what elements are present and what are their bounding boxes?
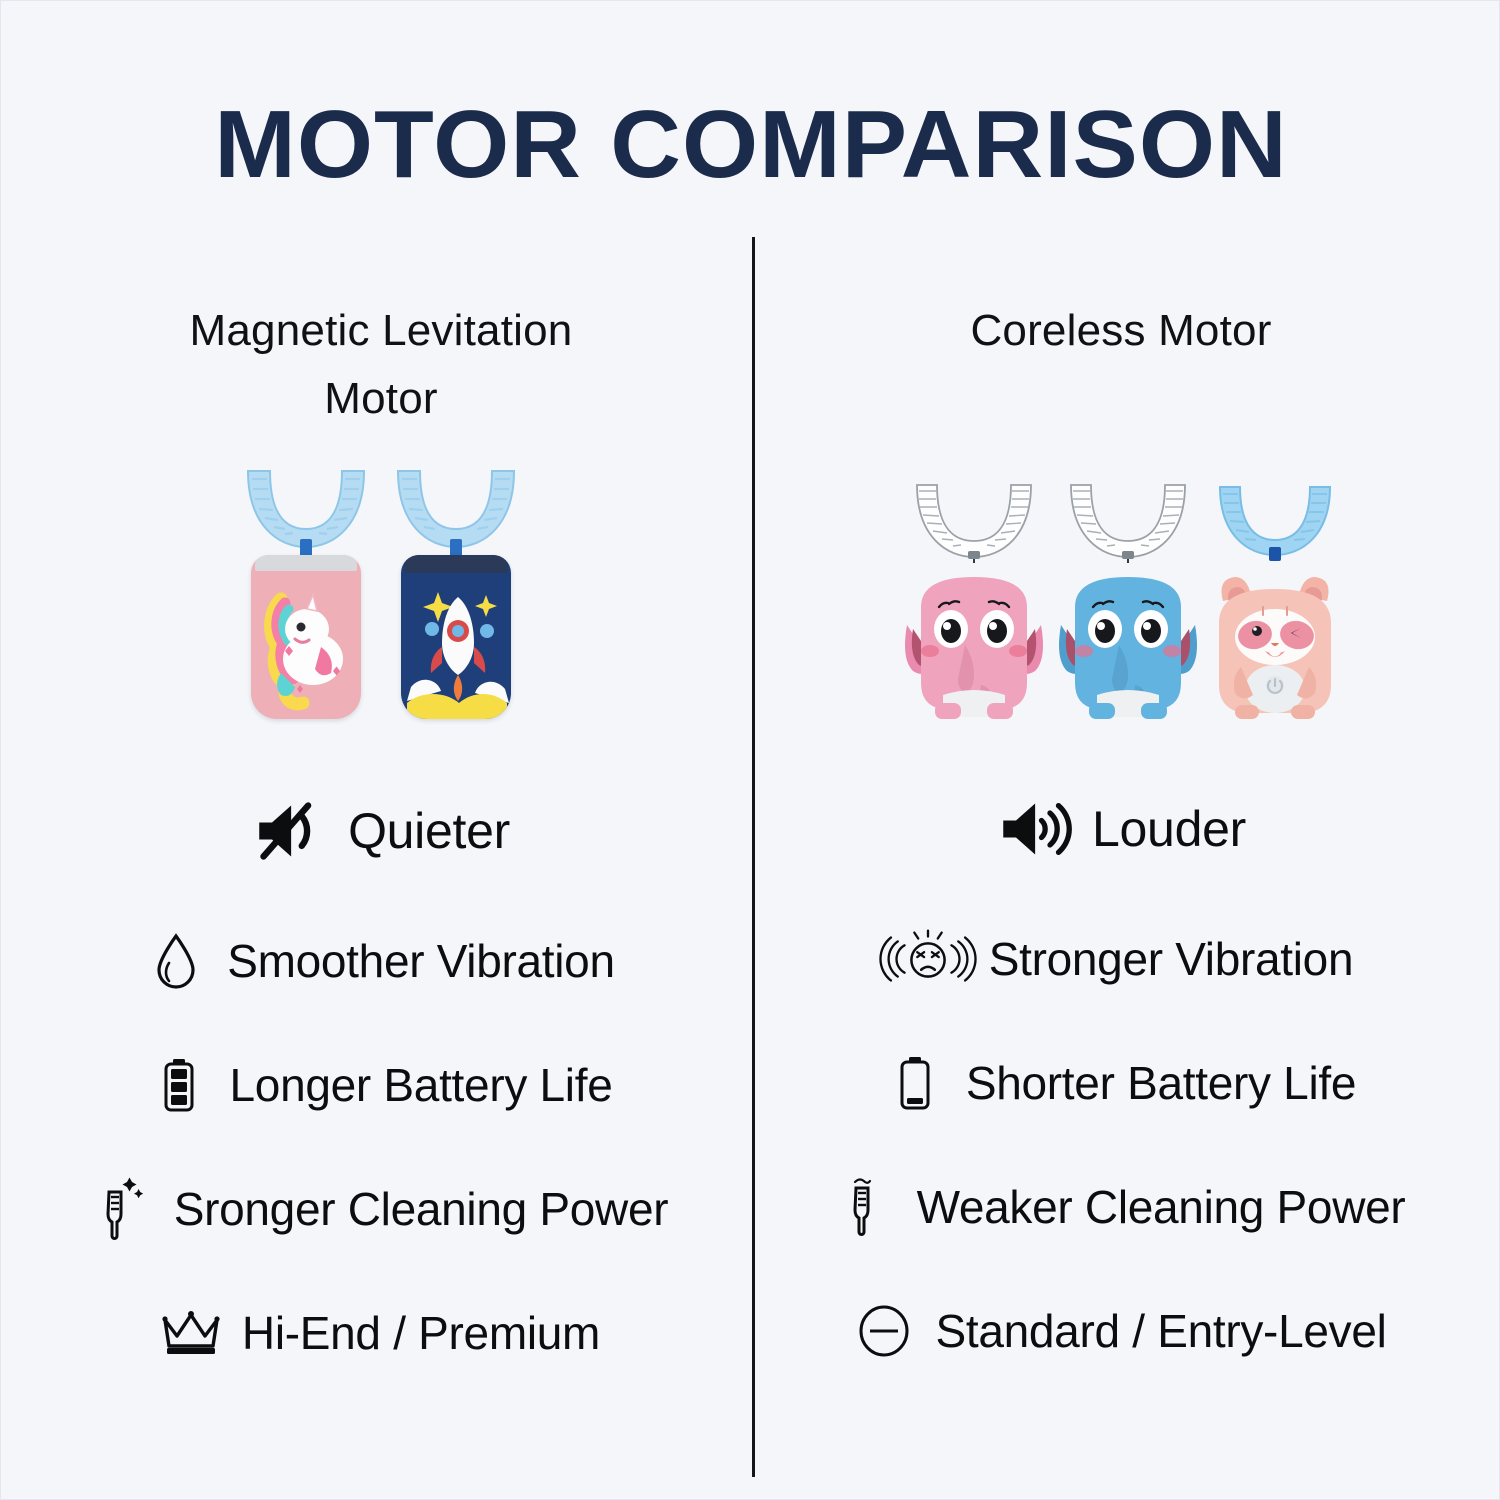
feature-row-weaker-cleaning: Weaker Cleaning Power	[771, 1145, 1471, 1269]
feature-list-left: Quieter Smoother Vibration	[31, 763, 731, 1395]
feature-row-hi-end-premium: Hi-End / Premium	[31, 1271, 731, 1395]
product-unicorn-toothbrush	[238, 467, 374, 719]
brush-head-icon	[905, 481, 1043, 563]
feature-row-longer-battery: Longer Battery Life	[31, 1023, 731, 1147]
crown-icon	[162, 1304, 220, 1362]
column-heading-left-line2: Motor	[31, 365, 731, 433]
feature-row-stronger-vibration: Stronger Vibration	[771, 897, 1471, 1021]
column-heading-left-line1: Magnetic Levitation	[31, 297, 731, 365]
product-images-right	[771, 447, 1471, 719]
speaker-loud-icon	[996, 794, 1070, 864]
device-body-pink-elephant	[899, 567, 1049, 719]
column-divider	[752, 237, 755, 1477]
brush-head-icon	[238, 467, 374, 553]
feature-row-shorter-battery: Shorter Battery Life	[771, 1021, 1471, 1145]
feature-label: Louder	[1092, 802, 1246, 856]
column-heading-right-line1: Coreless Motor	[771, 297, 1471, 365]
minus-circle-icon	[855, 1302, 913, 1360]
feature-label: Stronger Vibration	[989, 932, 1354, 986]
product-pink-elephant-toothbrush	[899, 481, 1049, 719]
battery-full-icon	[150, 1056, 208, 1114]
product-pink-panda-toothbrush	[1207, 483, 1343, 719]
toothbrush-icon	[837, 1178, 895, 1236]
feature-row-standard-entry-level: Standard / Entry-Level	[771, 1269, 1471, 1393]
feature-label: Sronger Cleaning Power	[174, 1182, 669, 1236]
feature-label: Weaker Cleaning Power	[917, 1180, 1406, 1234]
feature-label: Hi-End / Premium	[242, 1306, 600, 1360]
comparison-infographic: MOTOR COMPARISON Magnetic Levitation Mot…	[0, 0, 1500, 1500]
speaker-muted-icon	[252, 796, 326, 866]
shaking-face-icon	[889, 930, 967, 988]
feature-label: Shorter Battery Life	[966, 1056, 1356, 1110]
product-images-left	[31, 447, 731, 719]
page-title: MOTOR COMPARISON	[0, 93, 1500, 197]
product-rocket-toothbrush	[388, 467, 524, 719]
feature-list-right: Louder	[771, 761, 1471, 1393]
feature-row-stronger-cleaning: Sronger Cleaning Power	[31, 1147, 731, 1271]
device-body-blue-elephant	[1053, 567, 1203, 719]
water-drop-icon	[147, 932, 205, 990]
device-body-unicorn	[251, 555, 361, 719]
column-magnetic-levitation: Magnetic Levitation Motor	[31, 297, 731, 1395]
brush-head-icon	[1059, 481, 1197, 563]
product-blue-elephant-toothbrush	[1053, 481, 1203, 719]
feature-label: Longer Battery Life	[230, 1058, 613, 1112]
column-heading-left: Magnetic Levitation Motor	[31, 297, 731, 433]
device-body-pink-panda	[1207, 567, 1343, 719]
column-heading-right: Coreless Motor	[771, 297, 1471, 365]
feature-label: Standard / Entry-Level	[935, 1304, 1386, 1358]
feature-row-quieter: Quieter	[31, 763, 731, 899]
column-coreless: Coreless Motor	[771, 297, 1471, 1393]
brush-head-icon	[1212, 483, 1338, 561]
toothbrush-sparkle-icon	[94, 1180, 152, 1238]
device-body-rocket	[401, 555, 511, 719]
feature-row-louder: Louder	[771, 761, 1471, 897]
feature-row-smoother-vibration: Smoother Vibration	[31, 899, 731, 1023]
brush-head-icon	[388, 467, 524, 553]
battery-low-icon	[886, 1054, 944, 1112]
feature-label: Smoother Vibration	[227, 934, 615, 988]
feature-label: Quieter	[348, 804, 510, 858]
